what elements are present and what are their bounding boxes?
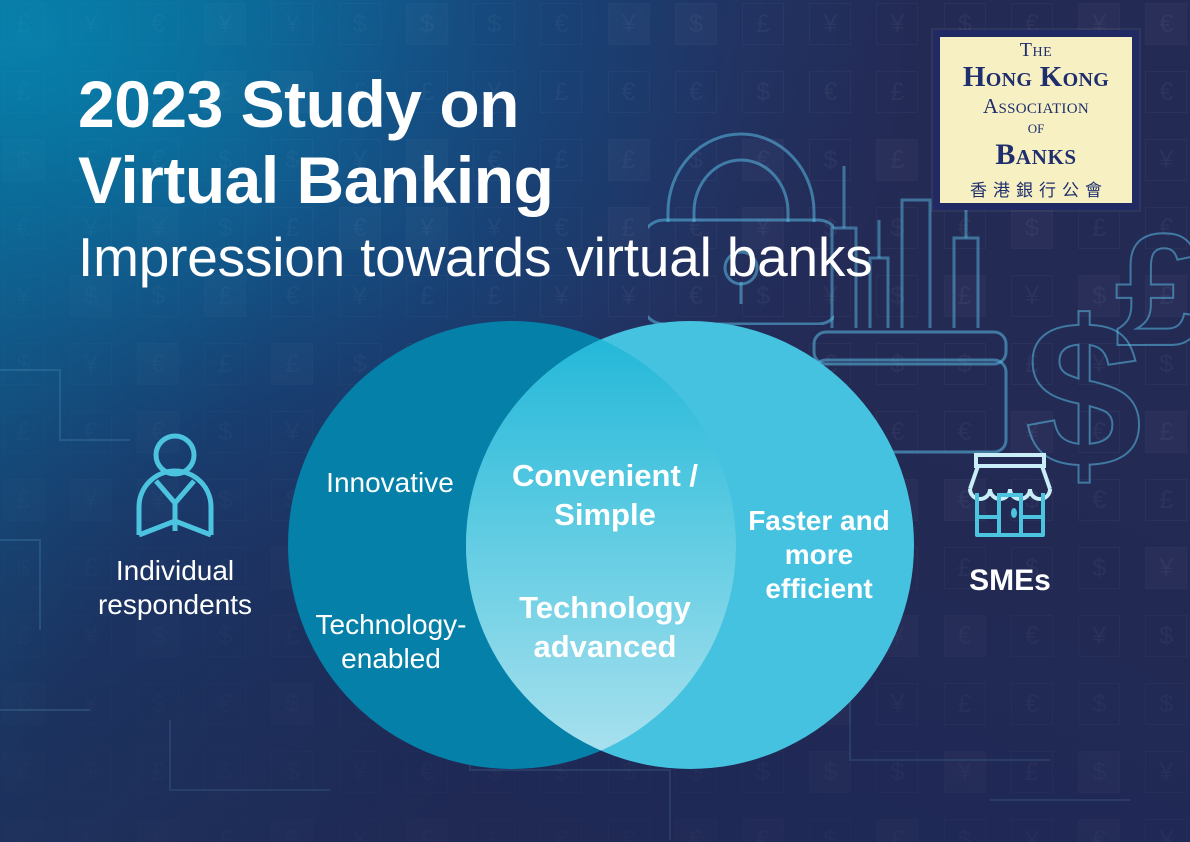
storefront-icon xyxy=(920,440,1100,550)
logo-line-hong-kong: Hong Kong xyxy=(963,62,1109,93)
logo-line-association: Association xyxy=(983,95,1089,117)
hkab-logo: The Hong Kong Association of Banks 香港銀行公… xyxy=(933,30,1139,210)
logo-line-banks: Banks xyxy=(995,139,1076,171)
logo-line-the: The xyxy=(1020,40,1052,61)
title-line-1: 2023 Study on xyxy=(78,66,872,142)
logo-line-chinese: 香港銀行公會 xyxy=(964,182,1108,200)
logo-line-of: of xyxy=(1028,118,1045,137)
persona-smes: SMEs xyxy=(920,440,1100,598)
persona-individual-respondents: Individual respondents xyxy=(60,430,290,622)
person-icon xyxy=(60,430,290,540)
title-line-2: Virtual Banking xyxy=(78,142,872,218)
infographic-canvas: £¥€¥¥$$$€¥$£¥¥$€¥€£€££€££¥£€€$€£$$¥€$£€$… xyxy=(0,0,1190,842)
persona-individual-label-line1: Individual xyxy=(60,554,290,588)
page-subtitle: Impression towards virtual banks xyxy=(78,222,872,292)
persona-smes-label: SMEs xyxy=(920,564,1100,598)
persona-individual-label-line2: respondents xyxy=(60,588,290,622)
page-title: 2023 Study on Virtual Banking Impression… xyxy=(78,66,872,292)
